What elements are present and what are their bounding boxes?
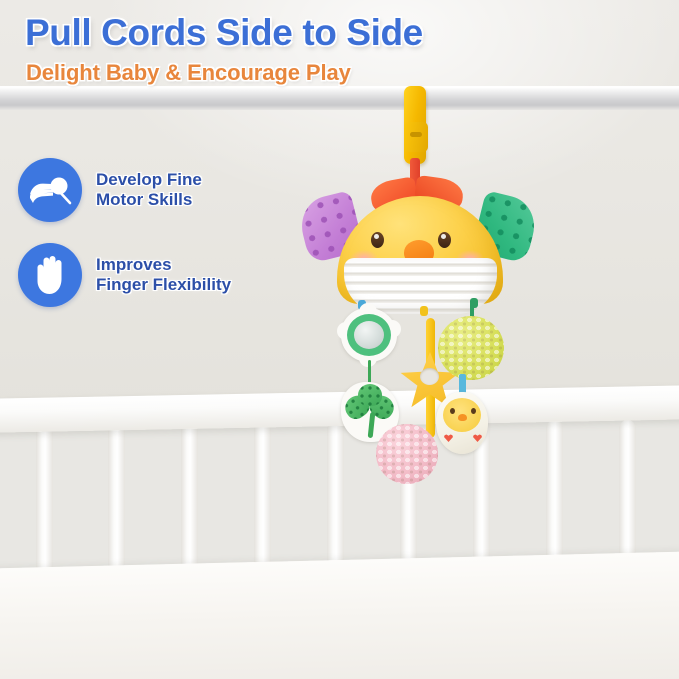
feature-label: Develop Fine Motor Skills xyxy=(96,170,202,210)
toy-pink-crochet-ball[interactable] xyxy=(376,424,438,484)
pointing-hand-icon xyxy=(18,158,82,222)
feature-motor-skills: Develop Fine Motor Skills xyxy=(18,158,202,222)
toy-clip-lever xyxy=(404,122,428,152)
page-subtitle: Delight Baby & Encourage Play xyxy=(26,62,351,84)
mirror-surface xyxy=(347,314,391,356)
product-feature-image: Pull Cords Side to Side Delight Baby & E… xyxy=(0,0,679,679)
chick-egg-eye xyxy=(471,408,476,414)
star-teether-hole xyxy=(420,368,439,385)
toy-eye-highlight xyxy=(441,234,446,239)
toy-ring-mirror[interactable] xyxy=(341,308,397,362)
toy-clip-slot xyxy=(410,132,422,137)
toy-green-crochet-ball[interactable] xyxy=(438,316,504,380)
feature-label: Improves Finger Flexibility xyxy=(96,255,231,295)
toy-eye-highlight xyxy=(374,234,379,239)
open-hand-icon xyxy=(18,243,82,307)
chick-egg-beak xyxy=(458,414,467,421)
page-title: Pull Cords Side to Side xyxy=(25,14,423,51)
feature-finger-flexibility: Improves Finger Flexibility xyxy=(18,243,231,307)
pull-cord-tab[interactable] xyxy=(420,306,428,316)
chick-egg-eye xyxy=(450,408,455,414)
